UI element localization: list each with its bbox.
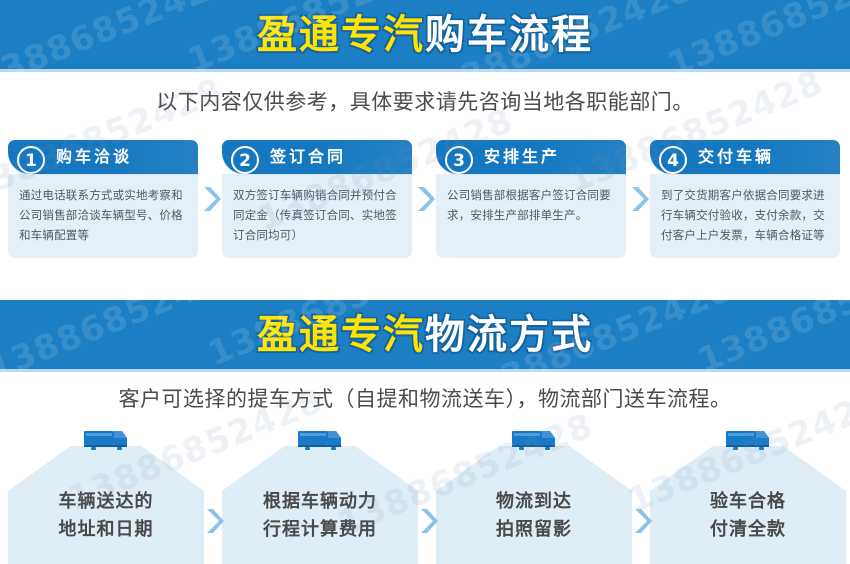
step-card-2-number: 2 bbox=[231, 146, 259, 174]
logistics-card-1-line1: 车辆送达的 bbox=[8, 488, 204, 516]
step-card-4-body: 到了交货期客户依据合同要求进行车辆交付验收，支付余款，交付客户上户发票，车辆合格… bbox=[650, 174, 840, 258]
logistics-card-1-text: 车辆送达的 地址和日期 bbox=[8, 488, 204, 544]
logistics-card-4-line2: 付清全款 bbox=[650, 516, 846, 544]
step-card-4-header: 4 交付车辆 bbox=[650, 140, 840, 174]
step-card-2-header: 2 签订合同 bbox=[222, 140, 412, 174]
logistics-card-3-line2: 拍照留影 bbox=[436, 516, 632, 544]
logistics-card-3-line1: 物流到达 bbox=[436, 488, 632, 516]
logistics-card-1[interactable]: 车辆送达的 地址和日期 bbox=[8, 428, 204, 564]
logistics-card-2-text: 根据车辆动力 行程计算费用 bbox=[222, 488, 418, 544]
logistics-banner-heading: 物流方式 bbox=[425, 312, 593, 358]
purchase-subtitle: 以下内容仅供参考，具体要求请先咨询当地各职能部门。 bbox=[0, 86, 850, 116]
chevron-right-icon bbox=[418, 506, 438, 536]
chevron-right-icon bbox=[632, 506, 652, 536]
step-card-1[interactable]: 1 购车洽谈 通过电话联系方式或实地考察和公司销售部洽谈车辆型号、价格和车辆配置… bbox=[8, 140, 198, 258]
step-card-1-body: 通过电话联系方式或实地考察和公司销售部洽谈车辆型号、价格和车辆配置等 bbox=[8, 174, 198, 258]
logistics-card-4-text: 验车合格 付清全款 bbox=[650, 488, 846, 544]
step-card-4-number: 4 bbox=[659, 146, 687, 174]
purchase-steps-row: 1 购车洽谈 通过电话联系方式或实地考察和公司销售部洽谈车辆型号、价格和车辆配置… bbox=[8, 140, 842, 260]
truck-icon bbox=[296, 428, 344, 454]
logistics-card-3-text: 物流到达 拍照留影 bbox=[436, 488, 632, 544]
step-card-1-header: 1 购车洽谈 bbox=[8, 140, 198, 174]
truck-icon bbox=[724, 428, 772, 454]
step-card-2[interactable]: 2 签订合同 双方签订车辆购销合同并预付合同定金（传真签订合同、实地签订合同均可… bbox=[222, 140, 412, 258]
step-card-1-number: 1 bbox=[17, 146, 45, 174]
step-card-3-number: 3 bbox=[445, 146, 473, 174]
logistics-banner-brand: 盈通专汽 bbox=[257, 312, 425, 358]
step-card-2-title: 签订合同 bbox=[270, 140, 346, 174]
step-card-1-title: 购车洽谈 bbox=[56, 140, 132, 174]
step-card-4[interactable]: 4 交付车辆 到了交货期客户依据合同要求进行车辆交付验收，支付余款，交付客户上户… bbox=[650, 140, 840, 258]
truck-icon bbox=[510, 428, 558, 454]
chevron-right-icon bbox=[201, 184, 221, 214]
truck-icon bbox=[82, 428, 130, 454]
step-card-4-title: 交付车辆 bbox=[698, 140, 774, 174]
step-card-3-title: 安排生产 bbox=[484, 140, 560, 174]
step-card-3-body: 公司销售部根据客户签订合同要求，安排生产部排单生产。 bbox=[436, 174, 626, 258]
purchase-banner-title: 盈通专汽购车流程 bbox=[0, 0, 850, 55]
logistics-banner-title: 盈通专汽物流方式 bbox=[0, 300, 850, 355]
purchase-process-banner: 盈通专汽购车流程 bbox=[0, 0, 850, 72]
step-card-3[interactable]: 3 安排生产 公司销售部根据客户签订合同要求，安排生产部排单生产。 bbox=[436, 140, 626, 258]
chevron-right-icon bbox=[415, 184, 435, 214]
logistics-subtitle: 客户可选择的提车方式（自提和物流送车），物流部门送车流程。 bbox=[0, 383, 850, 413]
logistics-card-3[interactable]: 物流到达 拍照留影 bbox=[436, 428, 632, 564]
logistics-card-2[interactable]: 根据车辆动力 行程计算费用 bbox=[222, 428, 418, 564]
chevron-right-icon bbox=[204, 506, 224, 536]
purchase-banner-heading: 购车流程 bbox=[425, 12, 593, 58]
logistics-card-2-line2: 行程计算费用 bbox=[222, 516, 418, 544]
logistics-card-4[interactable]: 验车合格 付清全款 bbox=[650, 428, 846, 564]
logistics-card-1-line2: 地址和日期 bbox=[8, 516, 204, 544]
logistics-card-2-line1: 根据车辆动力 bbox=[222, 488, 418, 516]
logistics-card-4-line1: 验车合格 bbox=[650, 488, 846, 516]
purchase-banner-brand: 盈通专汽 bbox=[257, 12, 425, 58]
step-card-3-header: 3 安排生产 bbox=[436, 140, 626, 174]
logistics-cards-row: 车辆送达的 地址和日期 根据车辆动力 行程计算费用 bbox=[8, 428, 842, 564]
chevron-right-icon bbox=[629, 184, 649, 214]
step-card-2-body: 双方签订车辆购销合同并预付合同定金（传真签订合同、实地签订合同均可） bbox=[222, 174, 412, 258]
logistics-banner: 盈通专汽物流方式 bbox=[0, 300, 850, 372]
